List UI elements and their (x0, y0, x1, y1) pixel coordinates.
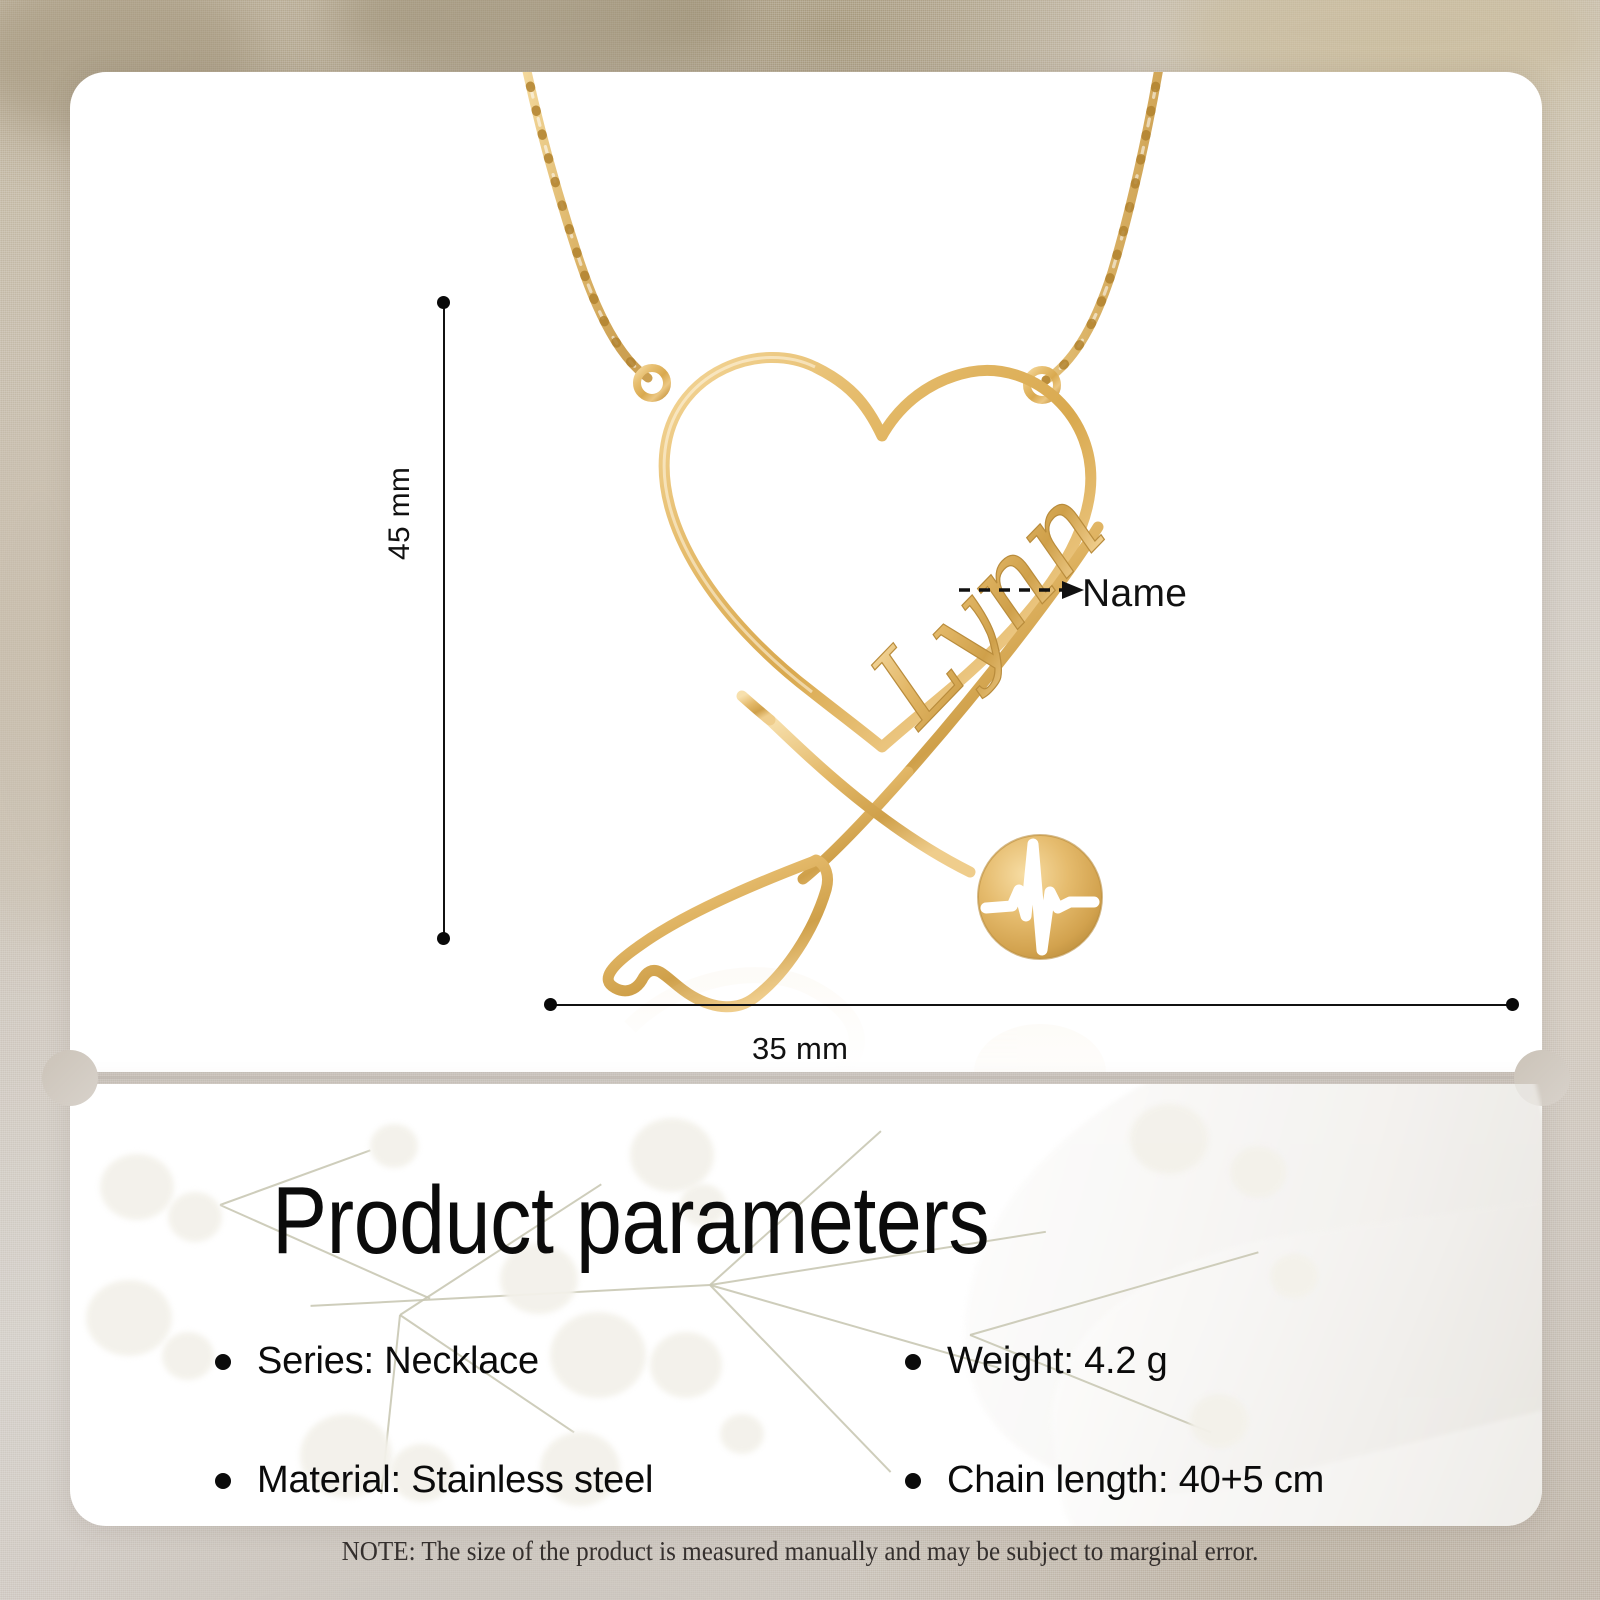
width-dimension-endpoint-left (544, 998, 557, 1011)
parameter-chain-length: Chain length: 40+5 cm (947, 1459, 1324, 1502)
width-dimension-endpoint-right (1506, 998, 1519, 1011)
product-detail-image: Lynn 45 mm 35 mm Name Product parameters… (0, 0, 1600, 1600)
width-dimension-label: 35 mm (752, 1031, 848, 1067)
product-reflection (630, 975, 1106, 1072)
measurement-disclaimer-note: NOTE: The size of the product is measure… (56, 1536, 1544, 1567)
parameter-row: Material: Stainless steel (215, 1459, 855, 1502)
height-dimension-endpoint-bottom (437, 932, 450, 945)
chain-right (1046, 72, 1160, 380)
product-photograph: Lynn (70, 72, 1542, 1072)
parameter-weight: Weight: 4.2 g (947, 1340, 1168, 1383)
bullet-icon (905, 1354, 921, 1370)
height-dimension-endpoint-top (437, 296, 450, 309)
height-dimension-label: 45 mm (383, 467, 417, 560)
stethoscope-tube-upper-left (742, 696, 770, 720)
height-dimension-line (443, 303, 445, 939)
width-dimension-line (551, 1004, 1513, 1006)
parameter-row: Series: Necklace (215, 1340, 855, 1383)
chain-left (525, 72, 648, 378)
necklace-illustration: Lynn (70, 72, 1542, 1072)
parameter-row: Weight: 4.2 g (905, 1340, 1465, 1383)
parameter-series: Series: Necklace (257, 1340, 539, 1383)
jump-ring-left (637, 368, 667, 398)
parameter-row: Chain length: 40+5 cm (905, 1459, 1465, 1502)
name-callout-arrow-icon (957, 578, 1087, 602)
parameter-material: Material: Stainless steel (257, 1459, 653, 1502)
parameters-title: Product parameters (272, 1166, 989, 1276)
name-callout-label: Name (1082, 572, 1187, 616)
bullet-icon (905, 1473, 921, 1489)
bullet-icon (215, 1354, 231, 1370)
bullet-icon (215, 1473, 231, 1489)
ticket-perforation-line (98, 1076, 1514, 1079)
